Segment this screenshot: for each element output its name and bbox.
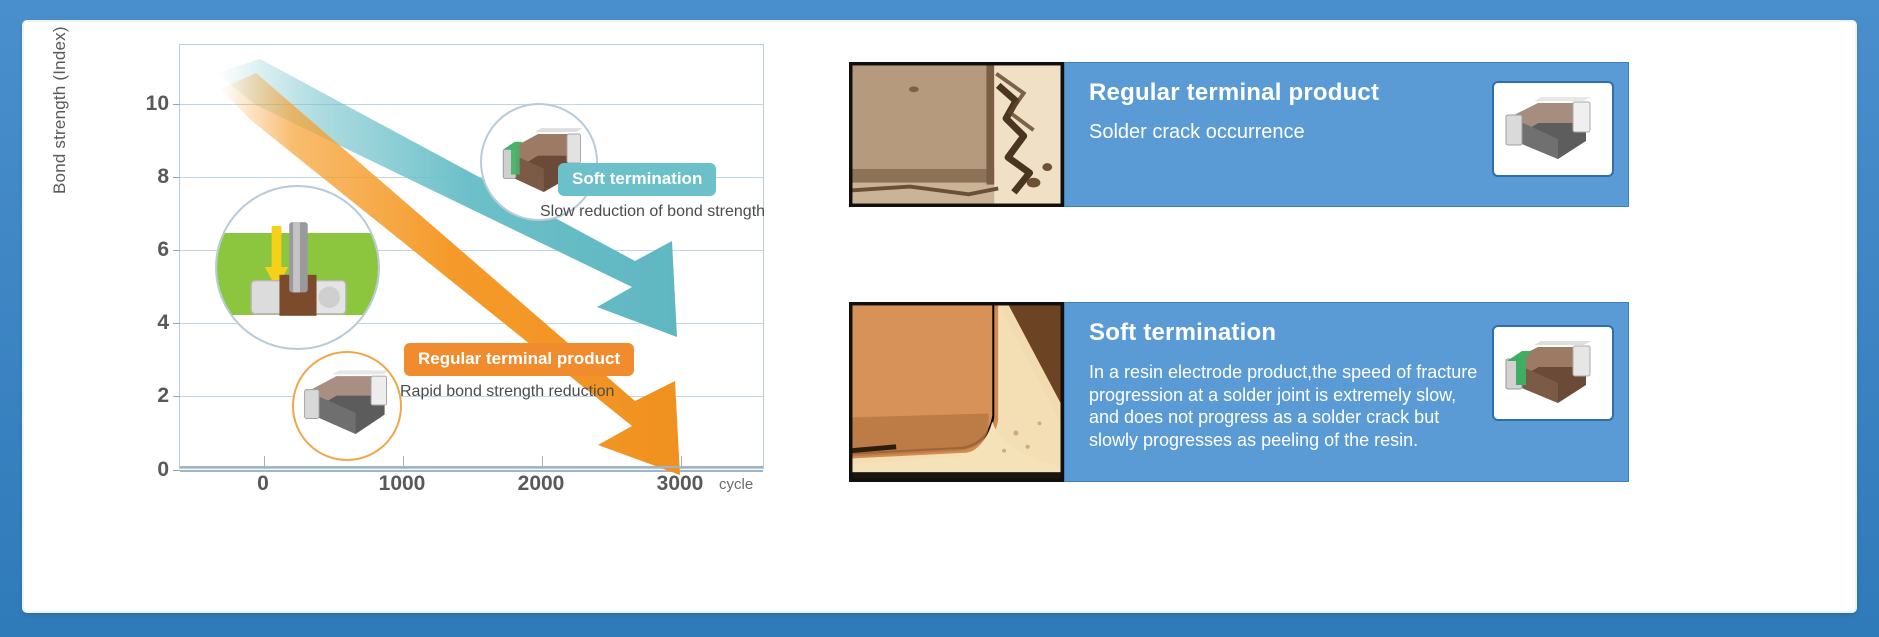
y-tick-8	[173, 177, 180, 178]
y-tick-label-0: 0	[157, 458, 169, 482]
y-tick-6	[173, 250, 180, 251]
x-tick-label-3000: 3000	[657, 472, 704, 496]
y-tick-2	[173, 396, 180, 397]
x-axis-unit-label: cycle	[719, 476, 753, 493]
card-paragraph-soft: In a resin electrode product,the speed o…	[1089, 361, 1482, 452]
x-tick-label-2000: 2000	[518, 472, 565, 496]
y-tick-4	[173, 323, 180, 324]
y-tick-label-8: 8	[157, 165, 169, 189]
y-tick-label-6: 6	[157, 238, 169, 262]
comparison-cards: Regular terminal product Solder crack oc…	[849, 62, 1629, 492]
card-title-soft: Soft termination	[1089, 319, 1482, 347]
micrograph-solder-crack	[849, 62, 1064, 207]
soft-termination-caption: Slow reduction of bond strength	[540, 203, 765, 221]
regular-terminal-tag: Regular terminal product	[404, 343, 634, 376]
micrograph-resin-peeling	[849, 302, 1064, 482]
card-body-soft: Soft termination In a resin electrode pr…	[1064, 302, 1629, 482]
y-tick-0	[173, 470, 180, 471]
card-subtitle-regular: Solder crack occurrence	[1089, 121, 1482, 144]
x-axis-line	[180, 466, 763, 468]
resin-peeling-cross-section-image	[851, 304, 1062, 480]
regular-terminal-caption: Rapid bond strength reduction	[400, 383, 614, 401]
soft-termination-chip-icon	[482, 105, 596, 219]
bond-strength-chart: Bond strength (Index) 0 2 4 6 8	[154, 44, 764, 489]
soft-termination-tag: Soft termination	[558, 163, 716, 196]
y-axis-title: Bond strength (Index)	[50, 26, 70, 194]
y-tick-10	[173, 104, 180, 105]
regular-chip-inset	[292, 351, 402, 461]
soft-termination-chip-thumbnail-icon	[1494, 327, 1612, 419]
y-tick-label-4: 4	[157, 311, 169, 335]
card-title-regular: Regular terminal product	[1089, 79, 1482, 107]
card-soft-termination: Soft termination In a resin electrode pr…	[849, 302, 1629, 482]
solder-crack-cross-section-image	[851, 64, 1062, 205]
bond-test-illustration-icon	[217, 187, 378, 348]
chart-plot-area: 0 2 4 6 8 10	[179, 44, 764, 469]
regular-chip-thumbnail-icon	[1494, 83, 1612, 175]
regular-chip-icon	[294, 353, 400, 459]
x-tick-label-0: 0	[257, 472, 269, 496]
card-body-regular: Regular terminal product Solder crack oc…	[1064, 62, 1629, 207]
gridline-10	[180, 104, 763, 105]
soft-termination-chip-thumbnail	[1492, 325, 1614, 421]
card-text-regular: Regular terminal product Solder crack oc…	[1089, 79, 1482, 144]
outer-blue-frame: Bond strength (Index) 0 2 4 6 8	[0, 0, 1879, 637]
y-tick-label-10: 10	[146, 92, 169, 116]
regular-chip-thumbnail	[1492, 81, 1614, 177]
content-sheet: Bond strength (Index) 0 2 4 6 8	[24, 22, 1855, 611]
card-regular-terminal-product: Regular terminal product Solder crack oc…	[849, 62, 1629, 207]
y-tick-label-2: 2	[157, 384, 169, 408]
bond-test-inset	[215, 185, 380, 350]
x-tick-label-1000: 1000	[379, 472, 426, 496]
card-text-soft: Soft termination In a resin electrode pr…	[1089, 319, 1482, 452]
